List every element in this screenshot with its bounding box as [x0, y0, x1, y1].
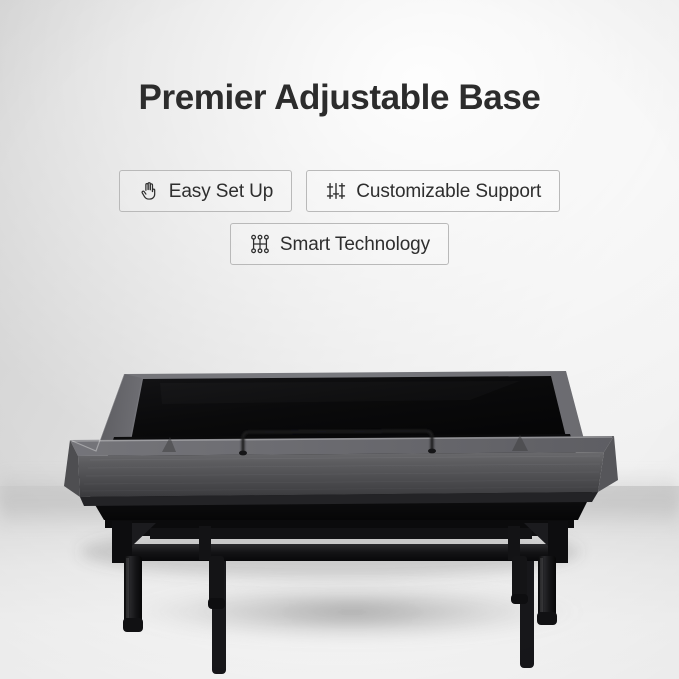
feature-row-1: Easy Set Up Customizable Support	[0, 170, 679, 212]
hand-raised-icon	[138, 180, 160, 202]
feature-pill-smart-technology[interactable]: Smart Technology	[230, 223, 449, 265]
network-nodes-icon	[249, 233, 271, 255]
feature-label: Customizable Support	[356, 182, 541, 201]
header: Premier Adjustable Base	[0, 0, 679, 118]
feature-label: Easy Set Up	[169, 182, 274, 201]
feature-label: Smart Technology	[280, 235, 430, 254]
page-title: Premier Adjustable Base	[0, 79, 679, 118]
feature-pill-easy-set-up[interactable]: Easy Set Up	[119, 170, 293, 212]
sliders-icon	[325, 180, 347, 202]
feature-pill-customizable-support[interactable]: Customizable Support	[306, 170, 560, 212]
feature-row-2: Smart Technology	[0, 223, 679, 265]
feature-badges: Easy Set Up Customizable Support	[0, 170, 679, 276]
floor-horizon-blend	[0, 470, 679, 530]
